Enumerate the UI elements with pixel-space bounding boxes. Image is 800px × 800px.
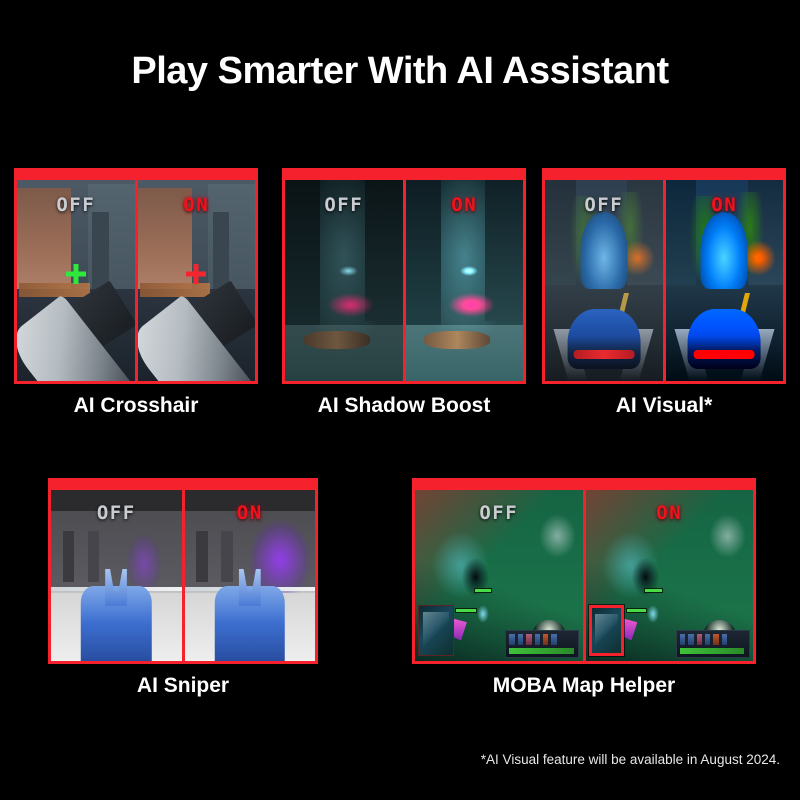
minimap-highlighted	[589, 605, 624, 656]
caption-ai-visual: AI Visual*	[542, 394, 786, 418]
feature-card-ai-sniper[interactable]: OFF ON	[48, 478, 318, 664]
pane-on[interactable]: ON	[185, 490, 316, 661]
card-frame: OFF ON	[48, 478, 318, 664]
comparison-panes: OFF ON	[545, 180, 783, 381]
state-label-off: OFF	[17, 194, 135, 216]
state-label-off: OFF	[285, 194, 403, 216]
comparison-panes: OFF ON	[51, 490, 315, 661]
pane-on[interactable]: ON	[586, 490, 754, 661]
feature-row-top: OFF ON AI Crosshair	[0, 168, 800, 428]
card-frame: OFF ON	[14, 168, 258, 384]
page-title: Play Smarter With AI Assistant	[0, 48, 800, 94]
pane-off[interactable]: OFF	[285, 180, 403, 381]
feature-card-moba-map-helper[interactable]: OFF ON	[412, 478, 756, 664]
state-label-off: OFF	[51, 502, 182, 524]
feature-row-bottom: OFF ON AI Sniper	[0, 478, 800, 728]
pane-on[interactable]: ON	[406, 180, 524, 381]
pane-on[interactable]: ON	[138, 180, 256, 381]
caption-ai-shadow-boost: AI Shadow Boost	[282, 394, 526, 418]
crosshair-on-icon	[186, 264, 206, 284]
feature-card-ai-shadow-boost[interactable]: OFF ON	[282, 168, 526, 384]
card-frame: OFF ON	[412, 478, 756, 664]
minimap	[418, 605, 453, 656]
state-label-on: ON	[586, 502, 754, 524]
card-frame: OFF ON	[542, 168, 786, 384]
caption-moba-map-helper: MOBA Map Helper	[412, 674, 756, 698]
feature-card-ai-visual[interactable]: OFF ON	[542, 168, 786, 384]
hud-bar	[505, 630, 579, 657]
hud-bar	[676, 630, 750, 657]
state-label-on: ON	[666, 194, 784, 216]
comparison-panes: OFF ON	[285, 180, 523, 381]
crosshair-off-icon	[66, 264, 86, 284]
pane-off[interactable]: OFF	[415, 490, 583, 661]
footnote-ai-visual-availability: *AI Visual feature will be available in …	[481, 752, 780, 767]
caption-ai-sniper: AI Sniper	[48, 674, 318, 698]
comparison-panes: OFF ON	[415, 490, 753, 661]
comparison-panes: OFF ON	[17, 180, 255, 381]
state-label-on: ON	[138, 194, 256, 216]
state-label-on: ON	[406, 194, 524, 216]
caption-ai-crosshair: AI Crosshair	[14, 394, 258, 418]
state-label-on: ON	[185, 502, 316, 524]
state-label-off: OFF	[545, 194, 663, 216]
pane-off[interactable]: OFF	[545, 180, 663, 381]
state-label-off: OFF	[415, 502, 583, 524]
card-frame: OFF ON	[282, 168, 526, 384]
feature-card-ai-crosshair[interactable]: OFF ON	[14, 168, 258, 384]
pane-on[interactable]: ON	[666, 180, 784, 381]
pane-off[interactable]: OFF	[51, 490, 182, 661]
pane-off[interactable]: OFF	[17, 180, 135, 381]
